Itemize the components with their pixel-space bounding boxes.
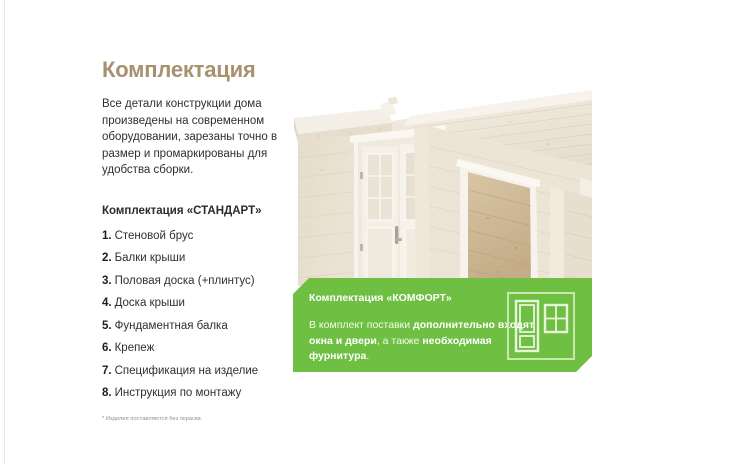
list-item-number: 2. (102, 252, 112, 264)
comfort-kit-text: В комплект поставки дополнительно входят… (309, 318, 539, 365)
list-item-label: Спецификация на изделие (115, 365, 259, 377)
list-item: 8.Инструкция по монтажу (102, 387, 292, 400)
list-item: 7.Спецификация на изделие (102, 365, 292, 378)
list-item: 5.Фундаментная балка (102, 320, 292, 333)
footnote-text: * Изделия поставляются без окраски. (102, 416, 292, 422)
list-item-label: Половая доска (+плинтус) (115, 275, 255, 287)
brochure-page: Комплектация Все детали конструкции дома… (0, 0, 734, 464)
list-item-number: 5. (102, 320, 112, 332)
list-item-label: Фундаментная балка (115, 320, 228, 332)
list-item-number: 7. (102, 365, 112, 377)
list-item: 2.Балки крыши (102, 252, 292, 265)
list-item-label: Инструкция по монтажу (115, 387, 242, 399)
garden-house-illustration (292, 86, 592, 286)
list-item: 6.Крепеж (102, 342, 292, 355)
list-item: 1.Стеновой брус (102, 230, 292, 243)
comfort-text-part2: , а также (377, 335, 423, 347)
garden-house-photo (292, 86, 592, 286)
comfort-kit-banner: Комплектация «КОМФОРТ» В комплект постав… (293, 278, 592, 372)
list-item-label: Стеновой брус (115, 230, 194, 242)
intro-paragraph: Все детали конструкции дома произведены … (102, 96, 292, 179)
standard-kit-heading: Комплектация «СТАНДАРТ» (102, 205, 292, 217)
list-item-label: Крепеж (115, 342, 155, 354)
list-item-number: 6. (102, 342, 112, 354)
door-window-icon (507, 292, 575, 360)
page-title: Комплектация (102, 58, 292, 82)
list-item: 3.Половая доска (+плинтус) (102, 275, 292, 288)
list-item-label: Балки крыши (115, 252, 186, 264)
list-item: 4.Доска крыши (102, 297, 292, 310)
comfort-text-part1: В комплект поставки (309, 319, 413, 331)
list-item-number: 1. (102, 230, 112, 242)
comfort-kit-title: Комплектация «КОМФОРТ» (309, 292, 452, 304)
list-item-label: Доска крыши (115, 297, 185, 309)
standard-kit-list: 1.Стеновой брус 2.Балки крыши 3.Половая … (102, 230, 292, 401)
comfort-text-part3: . (366, 350, 369, 362)
list-item-number: 4. (102, 297, 112, 309)
list-item-number: 3. (102, 275, 112, 287)
list-item-number: 8. (102, 387, 112, 399)
left-content-column: Комплектация Все детали конструкции дома… (102, 58, 292, 422)
